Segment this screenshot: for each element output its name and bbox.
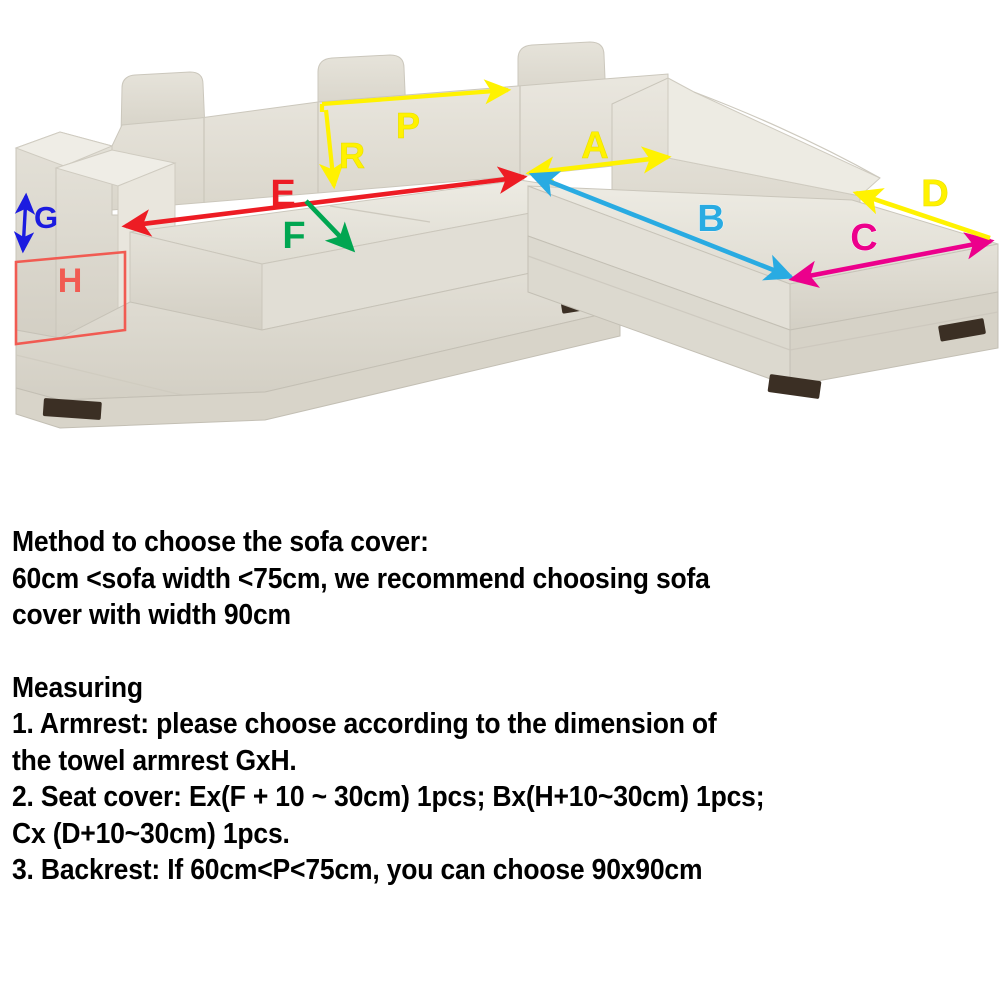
measure-label-H: H [58,262,83,300]
measure-label-D: D [921,173,948,215]
measure-label-E: E [270,173,295,215]
measure-label-C: C [850,217,877,259]
instruction-line: Method to choose the sofa cover: [12,524,920,561]
instruction-line: 3. Backrest: If 60cm<P<75cm, you can cho… [12,852,920,889]
instruction-line: 1. Armrest: please choose according to t… [12,706,920,743]
measure-label-R: R [339,135,365,176]
sofa-measurement-diagram: P R A E F [0,0,1000,460]
instruction-line: Cx (D+10~30cm) 1pcs. [12,816,920,853]
measure-label-A: A [581,125,608,167]
measure-label-F: F [282,215,305,257]
measuring-heading: Measuring [12,670,920,707]
instructions-text-block: Method to choose the sofa cover: 60cm <s… [12,524,988,889]
instruction-line: cover with width 90cm [12,597,920,634]
instruction-line: 2. Seat cover: Ex(F + 10 ~ 30cm) 1pcs; B… [12,779,920,816]
sofa-measuring-guide-page: P R A E F [0,0,1000,1000]
measure-label-B: B [697,198,724,240]
measure-label-P: P [396,105,420,146]
measure-label-G: G [34,200,58,235]
instruction-line: the towel armrest GxH. [12,743,920,780]
instruction-line: 60cm <sofa width <75cm, we recommend cho… [12,561,920,598]
instruction-spacer [12,634,988,670]
